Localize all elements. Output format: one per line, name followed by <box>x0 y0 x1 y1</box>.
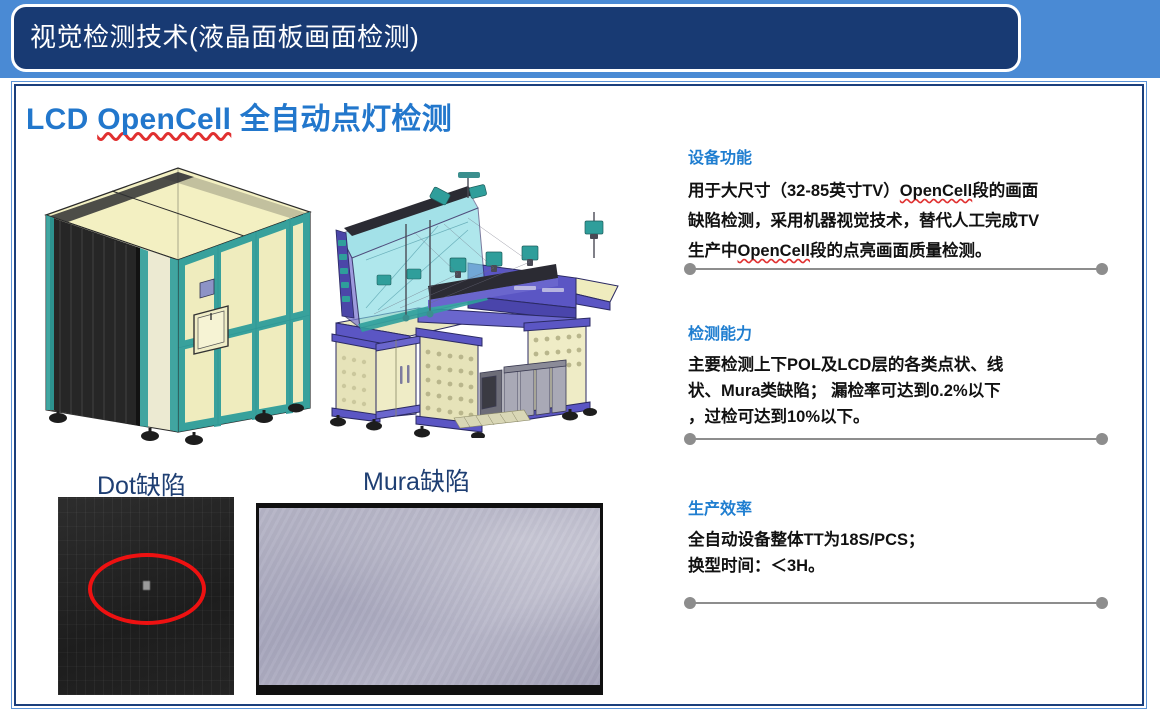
function-line1-part3: 段的画面 <box>972 182 1038 200</box>
dot-defect-photo <box>58 497 234 695</box>
divider-bar <box>690 602 1102 604</box>
divider-bar <box>690 268 1102 270</box>
slide-heading-misspelled-word: OpenCell <box>97 103 231 136</box>
divider-knob-right <box>1096 597 1108 609</box>
divider-after-capability <box>684 433 1108 445</box>
function-line3-opencell: OpenCell <box>738 242 810 260</box>
mura-panel-surface <box>259 508 600 685</box>
mura-sheen-overlay <box>259 508 600 685</box>
mura-defect-photo <box>256 503 603 695</box>
info-body-equipment-function: 用于大尺寸（32-85英寸TV）OpenCell段的画面缺陷检测，采用机器视觉技… <box>688 176 1108 266</box>
machine-cabinet-illustration <box>28 160 328 445</box>
defect-highlight-ellipse-icon <box>88 553 206 625</box>
info-title-equipment-function: 设备功能 <box>688 144 1108 168</box>
function-line2: 缺陷检测，采用机器视觉技术，替代人工完成TV <box>688 212 1039 230</box>
info-title-production-efficiency: 生产效率 <box>688 495 1108 519</box>
page-title: 视觉检测技术(液晶面板画面检测) <box>30 20 990 54</box>
caption-mura-defect: Mura缺陷 <box>363 462 470 498</box>
divider-knob-right <box>1096 263 1108 275</box>
function-line1-part1: 用于大尺寸（32-85英寸TV） <box>688 182 900 200</box>
info-block-equipment-function: 设备功能 用于大尺寸（32-85英寸TV）OpenCell段的画面缺陷检测，采用… <box>688 144 1108 266</box>
function-line3-part1: 生产中 <box>688 242 738 260</box>
divider-after-function <box>684 263 1108 275</box>
info-body-production-efficiency: 全自动设备整体TT为18S/PCS； 换型时间：＜3H。 <box>688 527 1108 579</box>
slide-heading-suffix: 全自动点灯检测 <box>231 103 452 136</box>
info-block-detection-capability: 检测能力 主要检测上下POL及LCD层的各类点状、线 状、Mura类缺陷； 漏检… <box>688 320 1108 430</box>
divider-knob-right <box>1096 433 1108 445</box>
info-body-detection-capability: 主要检测上下POL及LCD层的各类点状、线 状、Mura类缺陷； 漏检率可达到0… <box>688 352 1108 430</box>
function-line1-opencell: OpenCell <box>900 182 972 200</box>
info-title-detection-capability: 检测能力 <box>688 320 1108 344</box>
machine-inspection-station-illustration <box>318 168 628 438</box>
divider-bar <box>690 438 1102 440</box>
slide-heading: LCD OpenCell 全自动点灯检测 <box>26 94 452 138</box>
function-line3-part3: 段的点亮画面质量检测。 <box>810 242 992 260</box>
divider-after-efficiency <box>684 597 1108 609</box>
slide-heading-prefix: LCD <box>26 103 97 136</box>
info-block-production-efficiency: 生产效率 全自动设备整体TT为18S/PCS； 换型时间：＜3H。 <box>688 495 1108 579</box>
